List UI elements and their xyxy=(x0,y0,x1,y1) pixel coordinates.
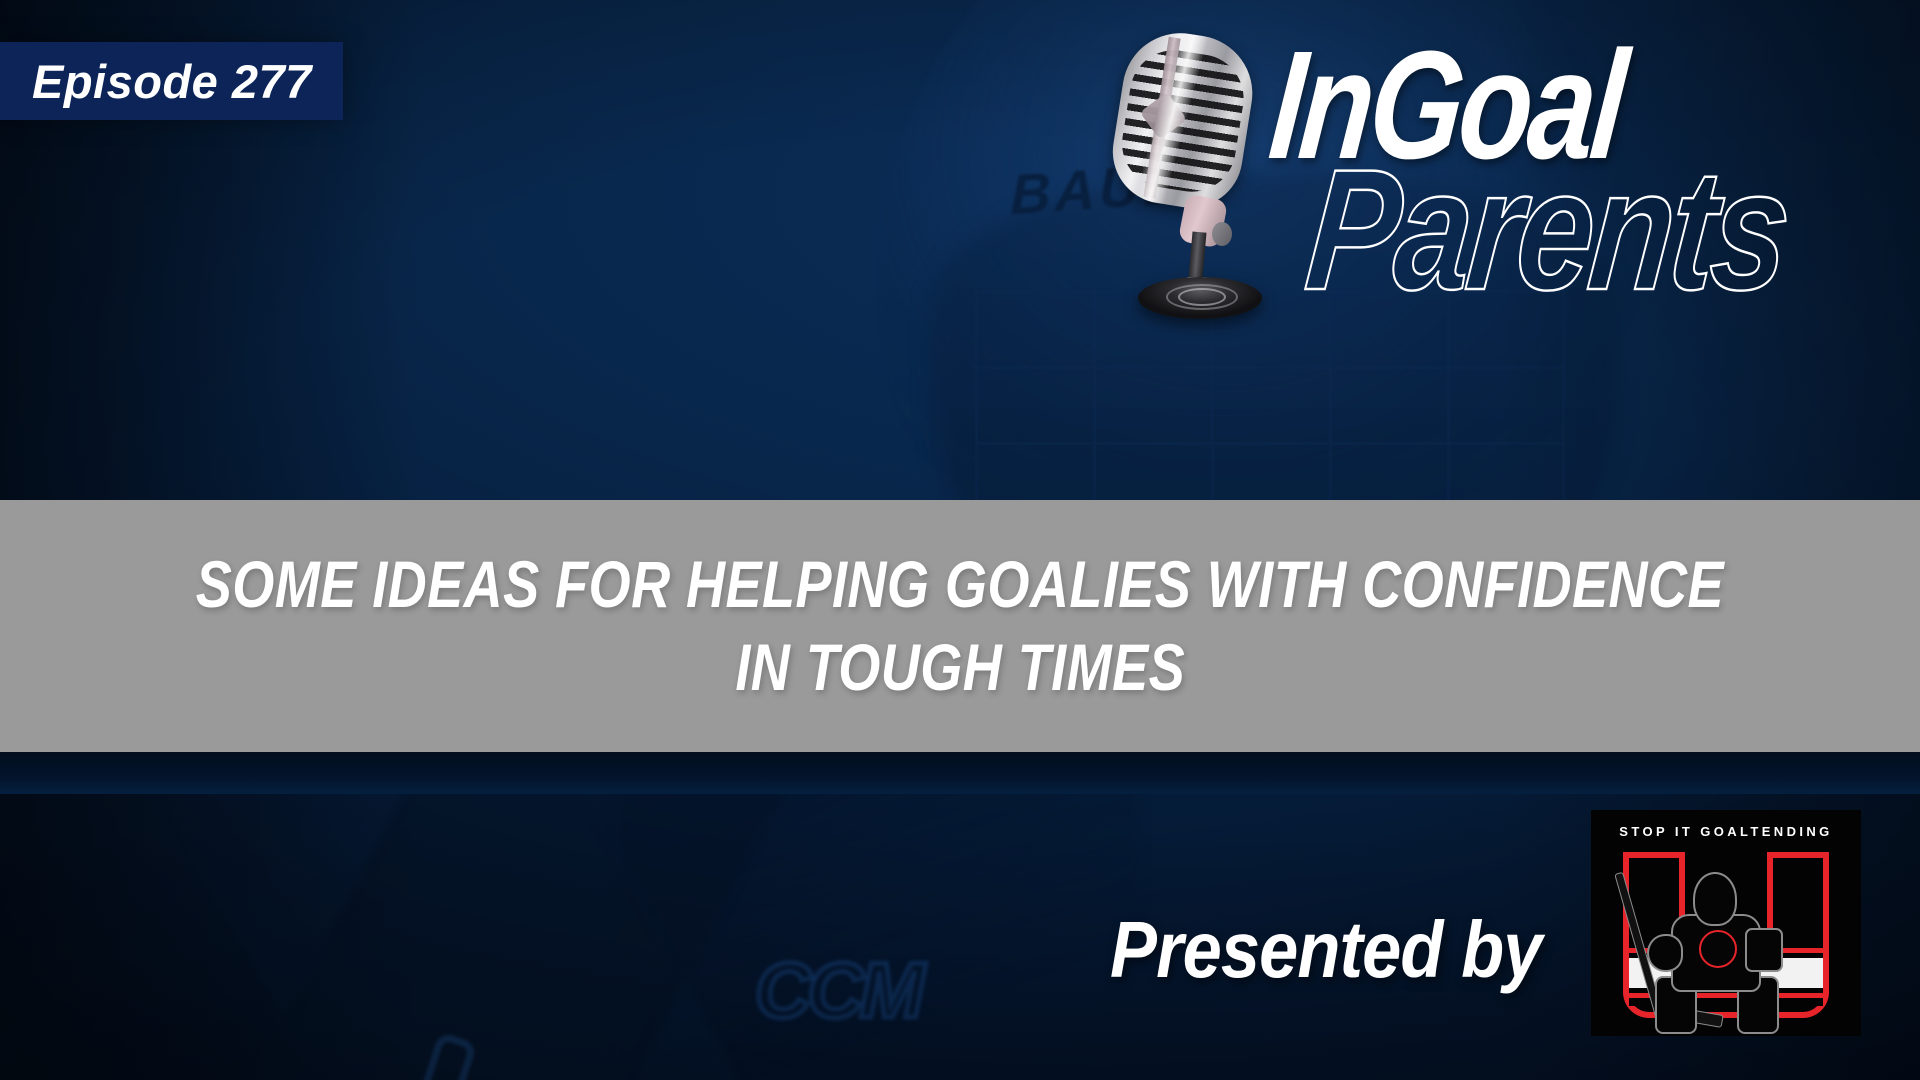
episode-label: Episode 277 xyxy=(32,58,312,105)
episode-title-line-2: IN TOUGH TIMES xyxy=(735,626,1185,709)
goalie-catching-glove xyxy=(1647,934,1683,972)
presented-by-label: Presented by xyxy=(1110,910,1542,990)
episode-badge: Episode 277 xyxy=(0,42,343,120)
podcast-episode-cover: BAUER CCM Episode 277 xyxy=(0,0,1920,1080)
goalie-chest-crest xyxy=(1699,930,1737,968)
goalie-silhouette-icon xyxy=(1649,872,1799,1030)
microphone-base-ring-inner xyxy=(1178,288,1226,306)
sponsor-name: STOP IT GOALTENDING xyxy=(1591,824,1861,839)
podcast-logo: InGoal Parents xyxy=(1074,22,1914,314)
brand-wordmark: InGoal Parents xyxy=(1279,22,1919,314)
goalie-blocker xyxy=(1745,928,1783,972)
episode-title-band: SOME IDEAS FOR HELPING GOALIES WITH CONF… xyxy=(0,500,1920,752)
microphone-knob xyxy=(1212,222,1232,246)
episode-title-line-1: SOME IDEAS FOR HELPING GOALIES WITH CONF… xyxy=(196,543,1724,626)
brand-name-parents: Parents xyxy=(1300,144,1794,316)
microphone-head xyxy=(1105,25,1260,215)
goalie-head xyxy=(1693,872,1737,926)
microphone-icon xyxy=(1086,34,1286,306)
band-lower-shadow-strip xyxy=(0,752,1920,794)
sponsor-logo: STOP IT GOALTENDING xyxy=(1591,810,1861,1036)
